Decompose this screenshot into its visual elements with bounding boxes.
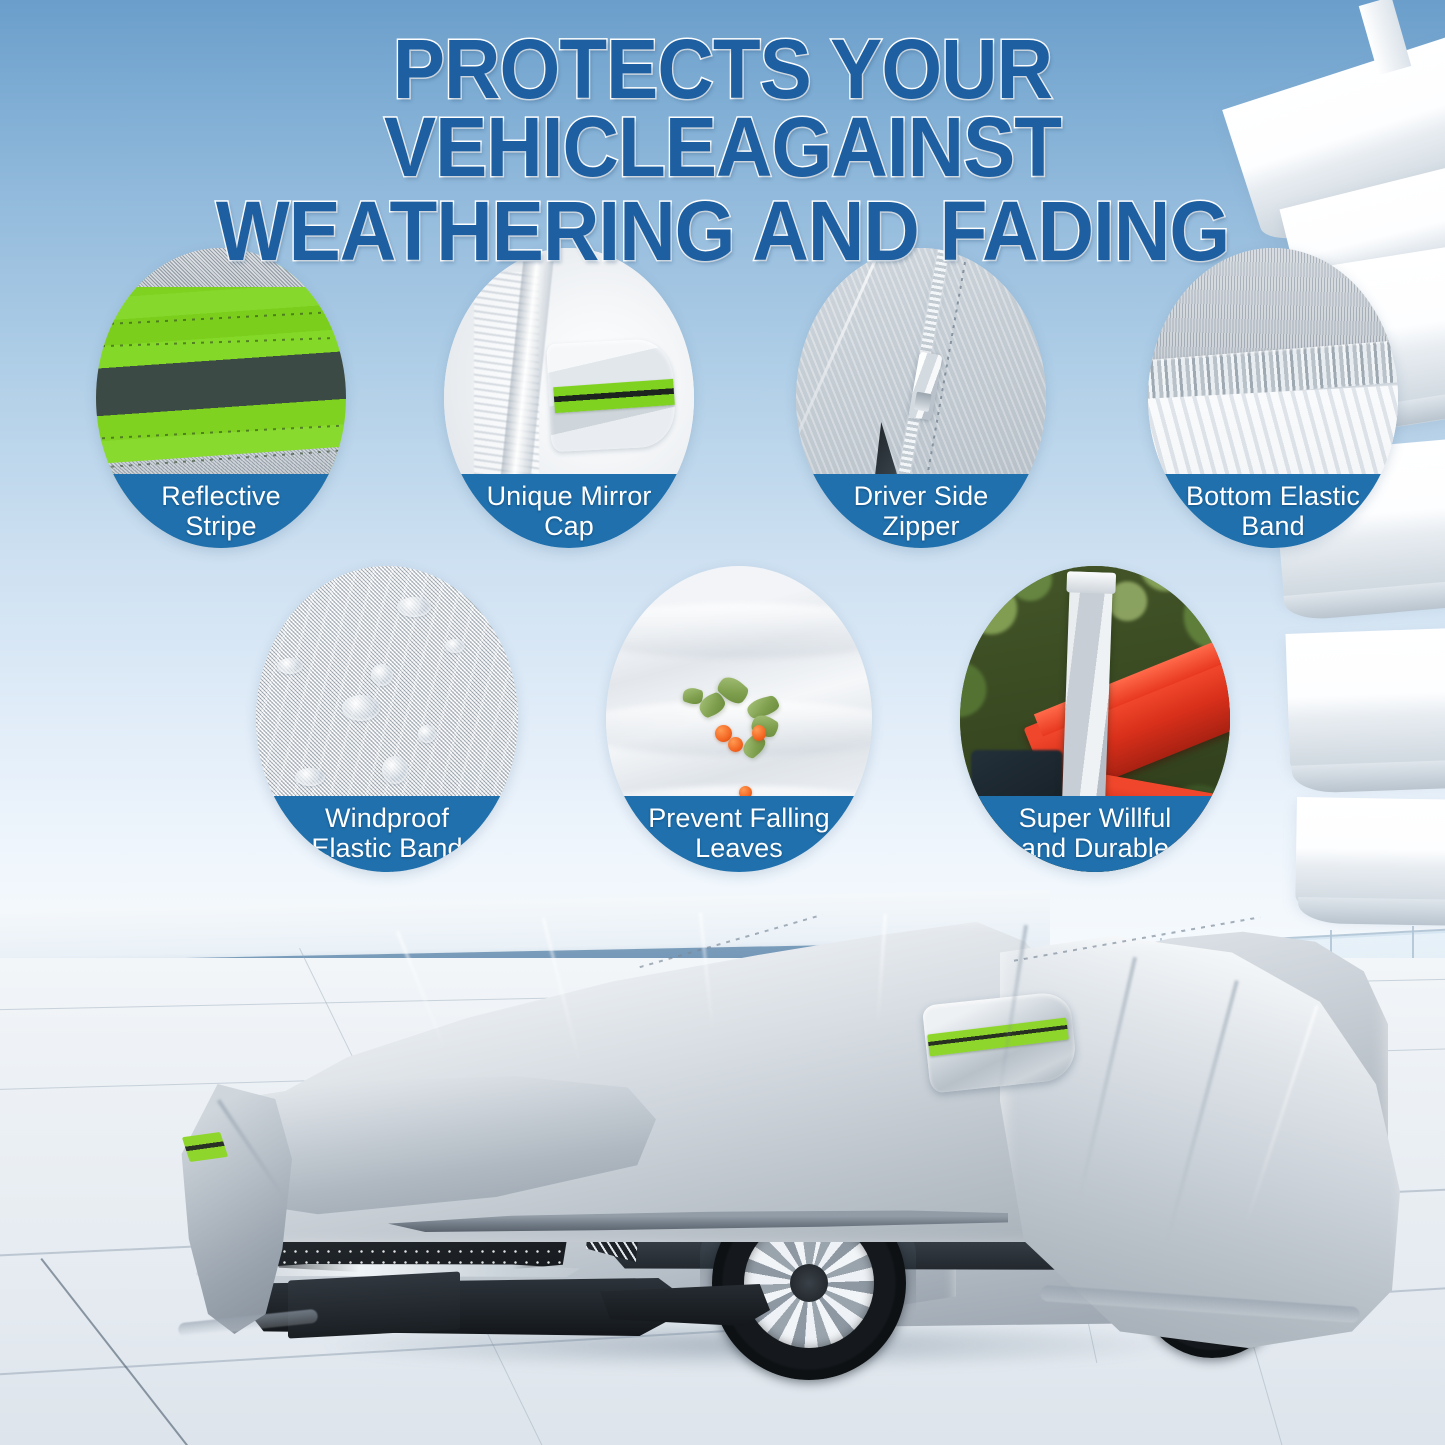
feature-label: Reflective Stripe — [96, 474, 346, 548]
water-droplet — [277, 658, 303, 674]
mesh-fabric-top — [96, 248, 346, 287]
feature-label-line-2: Elastic Band — [311, 833, 462, 863]
feature-label-line-1: Reflective — [161, 481, 281, 511]
feature-label-line-1: Windproof — [325, 803, 449, 833]
feature-label-line-2: Stripe — [185, 511, 256, 541]
water-droplet — [295, 768, 325, 786]
feature-card-windproof-elastic-band[interactable]: Windproof Elastic Band — [256, 566, 518, 872]
stitch-line — [96, 336, 346, 348]
water-droplet — [445, 639, 465, 653]
water-droplet — [418, 725, 436, 743]
feature-card-bottom-elastic-band[interactable]: Bottom Elastic Band — [1148, 248, 1398, 548]
feature-label-line-1: Prevent Falling — [648, 803, 830, 833]
water-droplet — [382, 756, 408, 784]
water-droplet — [342, 695, 380, 721]
feature-card-reflective-stripe[interactable]: Reflective Stripe — [96, 248, 346, 548]
water-droplet — [371, 664, 393, 686]
deck-slab-4 — [1285, 622, 1445, 784]
feature-label: Driver Side Zipper — [796, 474, 1046, 548]
feature-label-line-2: Leaves — [695, 833, 783, 863]
feature-label-line-2: Zipper — [882, 511, 959, 541]
feature-label: Prevent Falling Leaves — [606, 796, 872, 872]
feature-card-super-willful-and-durable[interactable]: Super Willful and Durable — [960, 566, 1230, 872]
feature-label-line-1: Bottom Elastic — [1186, 481, 1360, 511]
feature-label-line-1: Driver Side — [854, 481, 989, 511]
feature-label-line-2: Cap — [544, 511, 594, 541]
feature-card-driver-side-zipper[interactable]: Driver Side Zipper — [796, 248, 1046, 548]
feature-card-prevent-falling-leaves[interactable]: Prevent Falling Leaves — [606, 566, 872, 872]
feature-label-line-2: and Durable — [1021, 833, 1169, 863]
stitch-line — [96, 310, 346, 326]
feature-label: Super Willful and Durable — [960, 796, 1230, 872]
hero-covered-car — [0, 880, 1445, 1445]
front-reflective-stripe — [182, 1132, 228, 1162]
feature-label-line-1: Super Willful — [1019, 803, 1172, 833]
license-plate-area — [288, 1271, 460, 1338]
fabric-wave — [606, 603, 872, 658]
feature-label-line-2: Band — [1241, 511, 1304, 541]
feature-card-unique-mirror-cap[interactable]: Unique Mirror Cap — [444, 248, 694, 548]
water-droplet — [397, 597, 431, 617]
product-feature-graphic: PROTECTS YOUR VEHICLEAGAINST WEATHERING … — [0, 0, 1445, 1445]
feature-label: Windproof Elastic Band — [256, 796, 518, 872]
feature-label: Bottom Elastic Band — [1148, 474, 1398, 548]
front-wheel-hub — [790, 1264, 828, 1302]
feature-label: Unique Mirror Cap — [444, 474, 694, 548]
stitch-line — [96, 424, 346, 440]
feature-label-line-1: Unique Mirror — [487, 481, 652, 511]
